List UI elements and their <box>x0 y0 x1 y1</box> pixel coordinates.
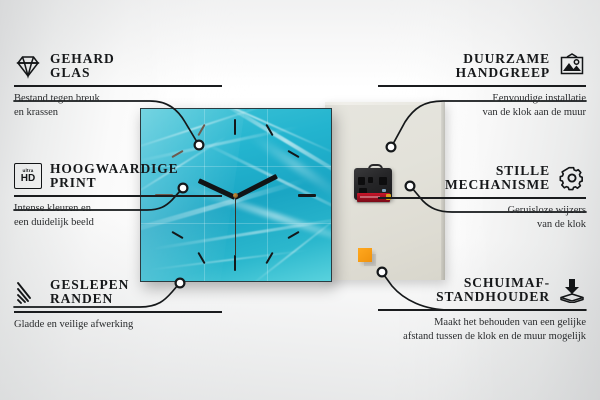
feature-desc-line2: en krassen <box>14 106 222 120</box>
feature-title-line1: GEHARD <box>50 52 115 66</box>
feature-description: Maakt het behouden van een gelijke afsta… <box>378 316 586 344</box>
feature-divider <box>378 309 586 310</box>
feature-header: SCHUIMAF- STANDHOUDER <box>378 276 586 304</box>
feature-header: STILLE MECHANISME <box>378 164 586 192</box>
hour-tick-6 <box>234 255 236 271</box>
feature-desc-line1: Intense kleuren en <box>14 202 222 216</box>
feature-title-line1: HOOGWAARDIGE <box>50 162 179 176</box>
feature-desc-line2: van de klok <box>378 218 586 232</box>
feature-divider <box>14 195 222 196</box>
feature-title-line2: STANDHOUDER <box>436 290 550 304</box>
diamond-icon <box>14 53 42 79</box>
feature-geslepen-randen: GESLEPEN RANDEN Gladde en veilige afwerk… <box>14 278 222 332</box>
feature-hoogwaardige-print: ultra HD HOOGWAARDIGE PRINT Intense kleu… <box>14 162 222 229</box>
mechanism-slot <box>358 177 365 185</box>
feature-header: GESLEPEN RANDEN <box>14 278 222 306</box>
feature-divider <box>378 85 586 86</box>
feature-stille-mechanisme: STILLE MECHANISME Geruisloze wijzers van… <box>378 164 586 231</box>
feature-description: Intense kleuren en een duidelijk beeld <box>14 202 222 230</box>
feature-description: Eenvoudige installatie van de klok aan d… <box>378 92 586 120</box>
feature-description: Gladde en veilige afwerking <box>14 318 222 332</box>
feature-gehard-glas: GEHARD GLAS Bestand tegen breuk en krass… <box>14 52 222 119</box>
bevelled-edges-icon <box>14 279 42 305</box>
hour-tick-12 <box>234 119 236 135</box>
feature-title-line1: GESLEPEN <box>50 278 129 292</box>
feature-title-line1: STILLE <box>496 164 550 178</box>
clock-center-pin <box>233 193 238 198</box>
feature-title-line2: HANDGREEP <box>456 66 550 80</box>
feature-title-line2: RANDEN <box>50 292 129 306</box>
feature-title: STILLE MECHANISME <box>445 164 550 192</box>
feature-description: Geruisloze wijzers van de klok <box>378 204 586 232</box>
ultra-hd-badge-icon: ultra HD <box>14 163 42 189</box>
feature-duurzame-handgreep: DUURZAME HANDGREEP Eenvoudige installati… <box>378 52 586 119</box>
feature-divider <box>14 311 222 312</box>
feature-title: GESLEPEN RANDEN <box>50 278 129 306</box>
infographic-canvas: GEHARD GLAS Bestand tegen breuk en krass… <box>0 0 600 400</box>
ultra-hd-badge-main-text: HD <box>21 174 35 184</box>
feature-desc-line1: Geruisloze wijzers <box>378 204 586 218</box>
feature-desc-line1: Maakt het behouden van een gelijke <box>378 316 586 330</box>
feature-title-line1: SCHUIMAF- <box>464 276 550 290</box>
feature-header: ultra HD HOOGWAARDIGE PRINT <box>14 162 222 190</box>
feature-desc-line2: van de klok aan de muur <box>378 106 586 120</box>
feature-title-line2: PRINT <box>50 176 179 190</box>
feature-description: Bestand tegen breuk en krassen <box>14 92 222 120</box>
feature-desc-line1: Gladde en veilige afwerking <box>14 318 222 332</box>
feature-desc-line2: een duidelijk beeld <box>14 216 222 230</box>
feature-divider <box>378 197 586 198</box>
feature-schuimaf-standhouder: SCHUIMAF- STANDHOUDER Maakt het behouden… <box>378 276 586 343</box>
feature-title-line1: DUURZAME <box>463 52 550 66</box>
feature-desc-line2: afstand tussen de klok en de muur mogeli… <box>378 330 586 344</box>
feature-title: DUURZAME HANDGREEP <box>456 52 550 80</box>
feature-header: GEHARD GLAS <box>14 52 222 80</box>
feature-title: SCHUIMAF- STANDHOUDER <box>436 276 550 304</box>
feature-title: HOOGWAARDIGE PRINT <box>50 162 179 190</box>
gear-icon <box>558 165 586 191</box>
second-hand <box>235 195 237 255</box>
mechanism-slot <box>368 177 373 183</box>
foam-spacer-pad <box>358 248 372 262</box>
feature-title-line2: GLAS <box>50 66 115 80</box>
feature-desc-line1: Bestand tegen breuk <box>14 92 222 106</box>
feature-desc-line1: Eenvoudige installatie <box>378 92 586 106</box>
hour-tick-3 <box>298 194 316 197</box>
feature-header: DUURZAME HANDGREEP <box>378 52 586 80</box>
hanging-picture-icon <box>558 53 586 79</box>
feature-title: GEHARD GLAS <box>50 52 115 80</box>
foam-spacer-icon <box>558 277 586 303</box>
feature-title-line2: MECHANISME <box>445 178 550 192</box>
battery-band <box>360 196 380 198</box>
glass-grid-line <box>267 109 268 281</box>
feature-divider <box>14 85 222 86</box>
